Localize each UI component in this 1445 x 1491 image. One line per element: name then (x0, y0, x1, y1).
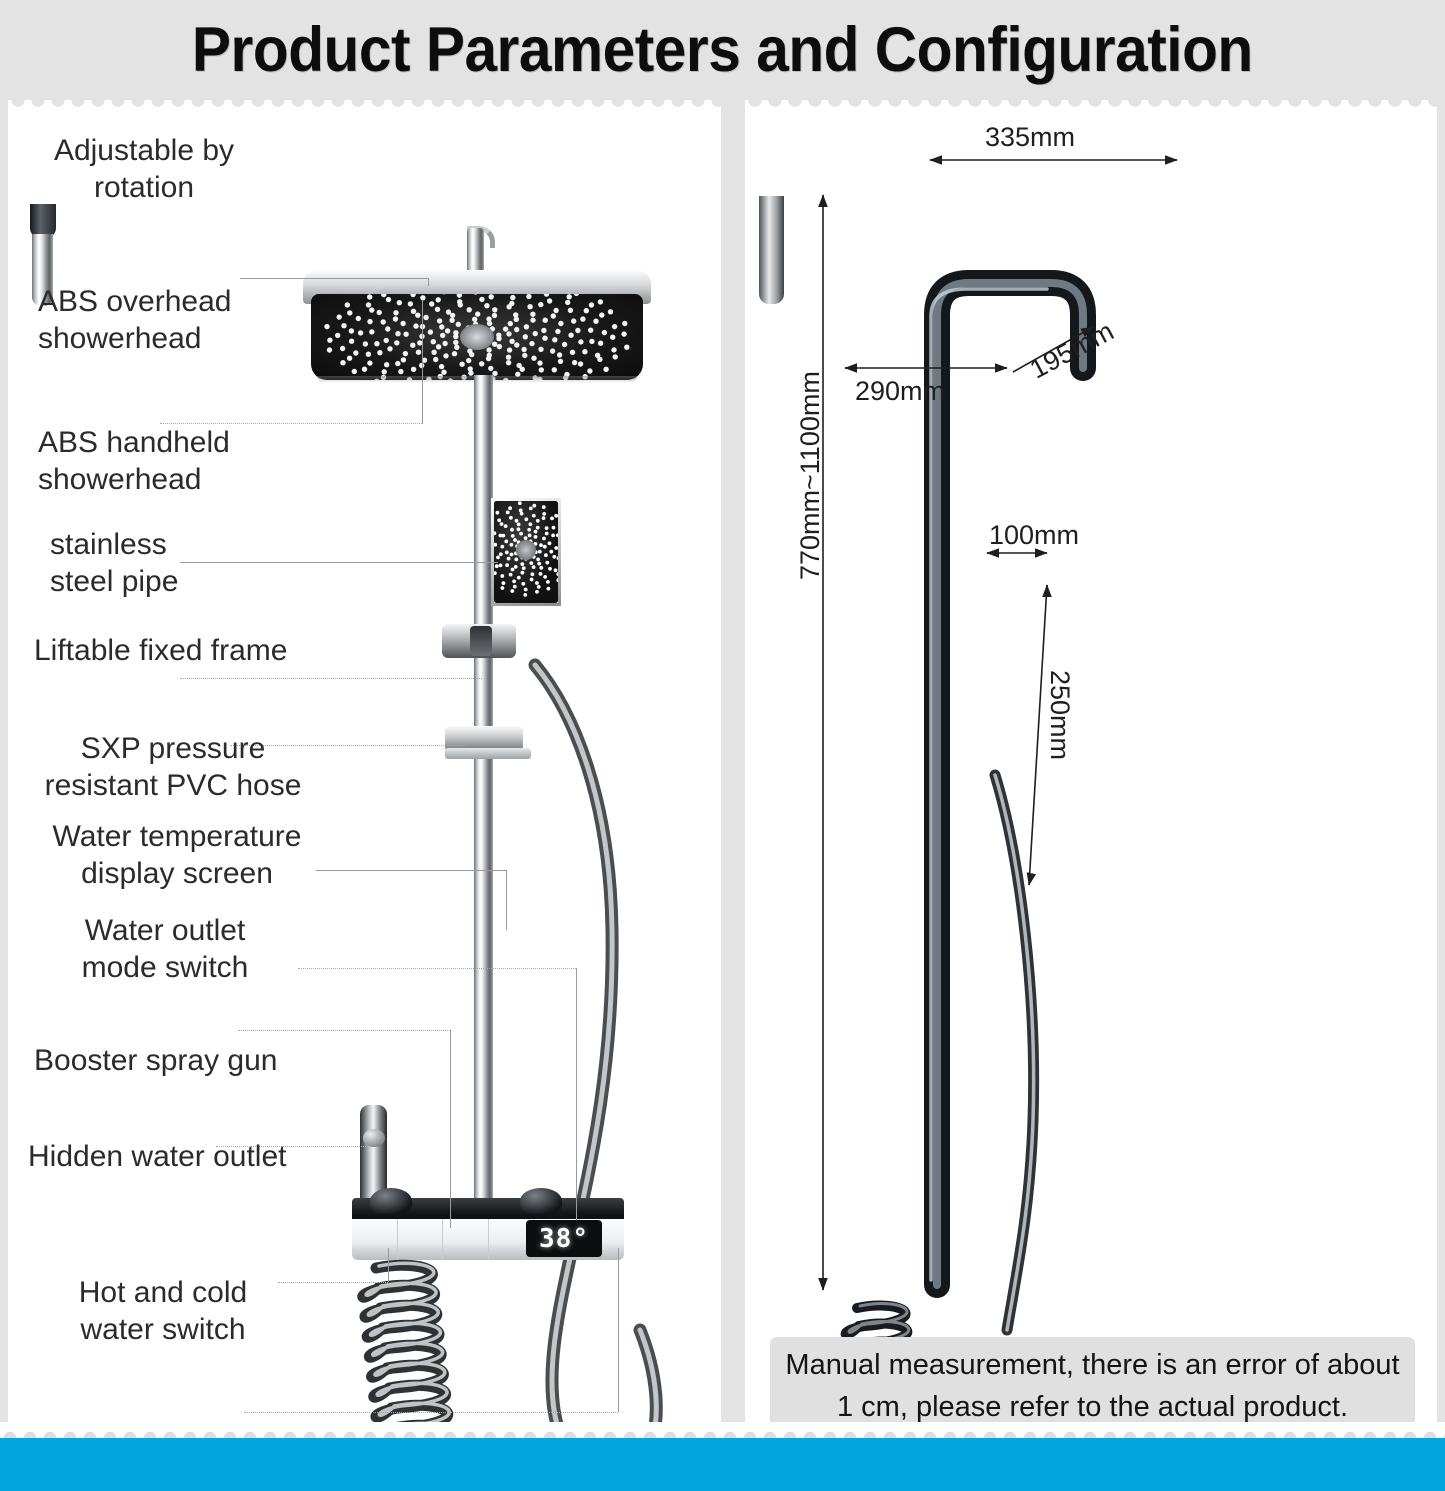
dim-total-height: 770mm~1100mm (795, 371, 826, 580)
leader-overhead-v (422, 300, 423, 424)
handheld-showerhead (491, 498, 561, 606)
dimension-arrows (745, 100, 1437, 1440)
water-temperature-display: 38° (526, 1220, 602, 1257)
label-abs-overhead-showerhead: ABS overhead showerhead (38, 283, 258, 357)
handheld-holder-bracket (442, 624, 516, 658)
leader-pvc-hose (316, 870, 506, 871)
dim-arm-reach: 335mm (985, 122, 1075, 153)
leader-hidden-outlet-v (388, 1248, 389, 1282)
valve-button-2[interactable] (398, 1219, 444, 1260)
page-header: Product Parameters and Configuration (0, 0, 1445, 100)
mode-knob[interactable] (520, 1188, 562, 1214)
dim-holder-offset: 100mm (989, 520, 1079, 551)
scallop-edge-left (8, 100, 721, 113)
label-water-outlet-mode-switch: Water outlet mode switch (52, 912, 278, 986)
temperature-value: 38° (539, 1224, 589, 1254)
leader-temp-display-v (576, 968, 577, 1220)
thermostatic-valve-bar: 38° (352, 1198, 624, 1260)
label-water-temperature-display: Water temperature display screen (32, 818, 322, 892)
measurement-disclaimer: Manual measurement, there is an error of… (770, 1337, 1415, 1434)
label-liftable-fixed-frame: Liftable fixed frame (34, 632, 324, 669)
handheld-face (491, 498, 561, 606)
handheld-neck (30, 204, 56, 238)
dim-handheld-length: 250mm (1044, 670, 1075, 760)
leader-temp-display (298, 968, 576, 969)
leader-hot-cold-switch (244, 1412, 618, 1413)
leader-mode-switch (238, 1030, 450, 1031)
page-title: Product Parameters and Configuration (192, 14, 1253, 86)
label-stainless-steel-pipe: stainless steel pipe (50, 526, 240, 600)
leader-adjustable-rotation-v (428, 278, 429, 286)
label-booster-spray-gun: Booster spray gun (34, 1042, 334, 1079)
holder-cradle (470, 626, 492, 656)
hot-cold-knob[interactable] (370, 1188, 412, 1214)
label-abs-handheld-showerhead: ABS handheld showerhead (38, 424, 258, 498)
leader-hot-cold-switch-v (618, 1248, 619, 1412)
handheld-hub (516, 540, 536, 560)
label-hidden-water-outlet: Hidden water outlet (28, 1138, 328, 1175)
fixed-frame-arm (445, 748, 531, 759)
label-sxp-pvc-hose: SXP pressure resistant PVC hose (34, 730, 312, 804)
showerhead-hub (460, 324, 494, 350)
accent-bar (0, 1438, 1445, 1491)
showerhead-face (311, 294, 643, 380)
leader-mode-switch-v (450, 1030, 451, 1228)
leader-pvc-hose-v (506, 870, 507, 930)
dim-head-width: 290mm (855, 376, 945, 407)
leader-adjustable-rotation (240, 278, 428, 279)
valve-button-1[interactable] (352, 1219, 398, 1260)
label-adjustable-rotation: Adjustable by rotation (46, 132, 242, 206)
page-root: Product Parameters and Configuration (0, 0, 1445, 1491)
dimension-product-panel: ⌐ ↑ ⩓ | 38° (745, 100, 1437, 1440)
leader-hidden-outlet (278, 1282, 388, 1283)
leader-steel-pipe (180, 678, 482, 679)
scallop-edge-bottom (0, 1422, 1445, 1438)
overhead-showerhead (303, 270, 651, 383)
spray-gun-trigger (363, 1129, 385, 1147)
label-hot-cold-water-switch: Hot and cold water switch (56, 1274, 270, 1348)
